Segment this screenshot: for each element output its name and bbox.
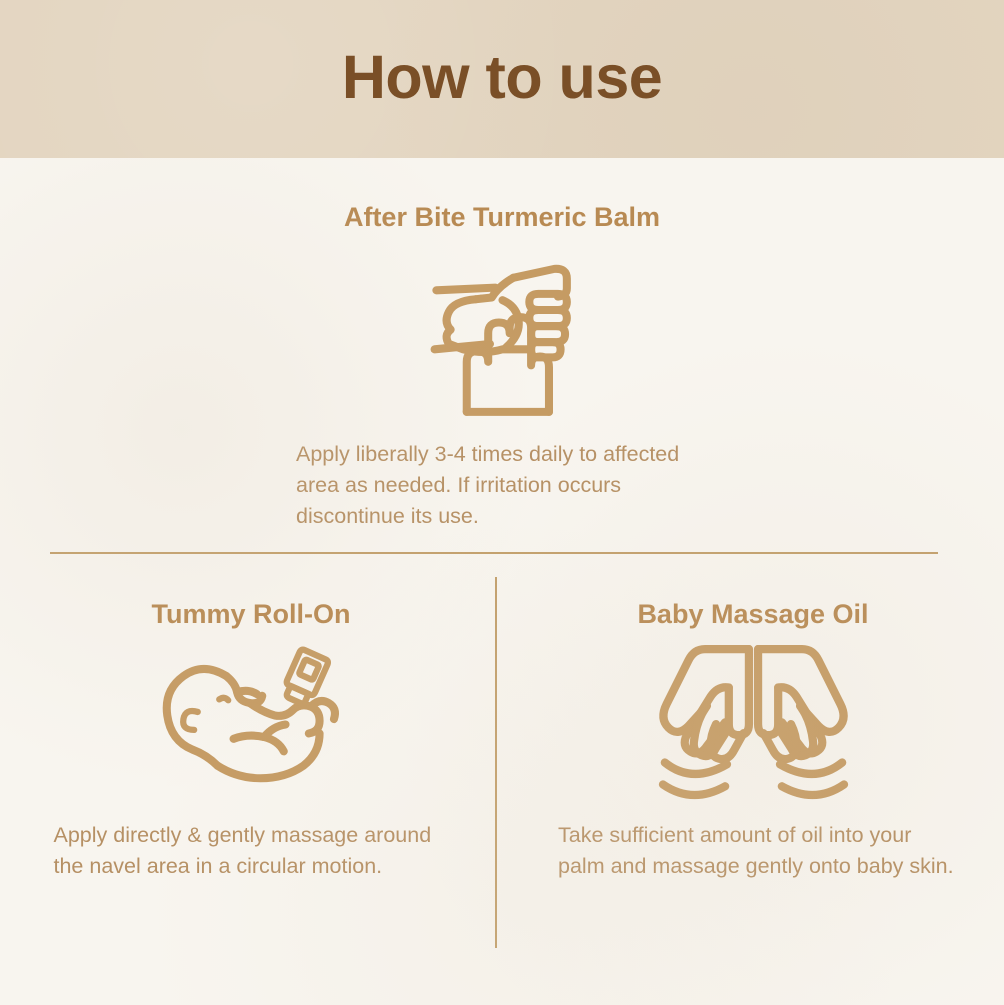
section-title-after-bite-turmeric-balm: After Bite Turmeric Balm xyxy=(344,203,660,233)
section-after-bite-turmeric-balm: After Bite Turmeric Balm Apply liberally… xyxy=(0,158,1004,553)
two-hands-massaging-icon xyxy=(646,640,861,800)
page-title: How to use xyxy=(342,47,662,112)
header-band: How to use xyxy=(0,0,1004,158)
baby-with-roll-on-icon xyxy=(144,640,359,800)
hand-applying-balm-icon xyxy=(410,251,595,421)
section-title-baby-massage-oil: Baby Massage Oil xyxy=(637,600,868,630)
section-body-tummy-roll-on: Apply directly & gently massage around t… xyxy=(54,820,454,882)
section-tummy-roll-on: Tummy Roll-On xyxy=(0,555,502,1005)
section-baby-massage-oil: Baby Massage Oil xyxy=(502,555,1004,1005)
section-body-baby-massage-oil: Take sufficient amount of oil into your … xyxy=(558,820,958,882)
section-body-after-bite-turmeric-balm: Apply liberally 3-4 times daily to affec… xyxy=(296,439,726,532)
horizontal-divider xyxy=(50,552,938,554)
bottom-sections: Tummy Roll-On xyxy=(0,555,1004,1005)
how-to-use-infographic: How to use After Bite Turmeric Balm Appl… xyxy=(0,0,1004,1005)
section-title-tummy-roll-on: Tummy Roll-On xyxy=(152,600,351,630)
